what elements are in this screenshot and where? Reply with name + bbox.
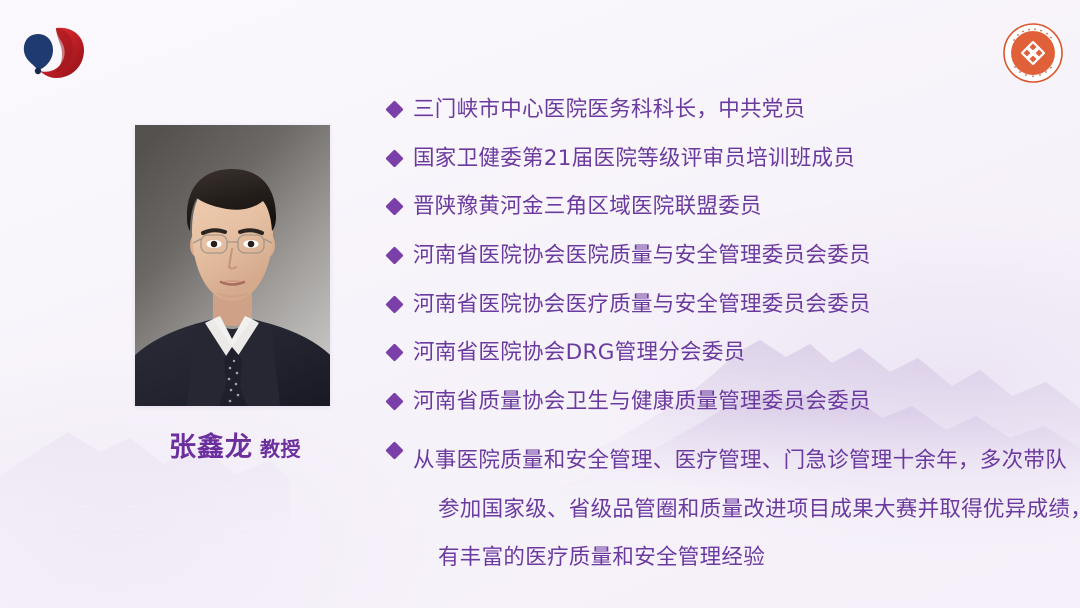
diamond-bullet-icon — [385, 295, 403, 313]
diamond-bullet-icon — [385, 149, 403, 167]
paragraph-line: 从事医院质量和安全管理、医疗管理、门急诊管理十余年，多次带队 — [413, 437, 1051, 486]
list-item-label: 国家卫健委第21届医院等级评审员培训班成员 — [413, 145, 855, 173]
list-item: 河南省质量协会卫生与健康质量管理委员会委员 — [388, 388, 1058, 437]
list-item-label: 河南省质量协会卫生与健康质量管理委员会委员 — [413, 388, 871, 416]
list-item-label: 河南省医院协会医院质量与安全管理委员会委员 — [413, 242, 871, 270]
speaker-photo — [135, 125, 330, 406]
diamond-bullet-icon — [385, 441, 403, 459]
speaker-photo-frame — [135, 125, 330, 406]
list-item-paragraph: 从事医院质量和安全管理、医疗管理、门急诊管理十余年，多次带队 参加国家级、省级品… — [388, 437, 1058, 583]
speaker-title: 教授 — [260, 437, 301, 461]
list-item: 晋陕豫黄河金三角区域医院联盟委员 — [388, 193, 1058, 242]
list-item-label: 河南省医院协会医疗质量与安全管理委员会委员 — [413, 291, 871, 319]
list-item: 河南省医院协会医院质量与安全管理委员会委员 — [388, 242, 1058, 291]
slide-root: 张鑫龙教授 三门峡市中心医院医务科科长，中共党员 国家卫健委第21届医院等级评审… — [0, 0, 1080, 608]
diamond-bullet-icon — [385, 344, 403, 362]
list-item: 河南省医院协会DRG管理分会委员 — [388, 339, 1058, 388]
diamond-bullet-icon — [385, 392, 403, 410]
speaker-name: 张鑫龙 — [169, 432, 253, 463]
list-item-label: 三门峡市中心医院医务科科长，中共党员 — [413, 96, 805, 124]
speaker-name-caption: 张鑫龙教授 — [135, 434, 335, 461]
paragraph-line: 有丰富的医疗质量和安全管理经验 — [413, 534, 1051, 583]
diamond-bullet-icon — [385, 198, 403, 216]
credentials-list: 三门峡市中心医院医务科科长，中共党员 国家卫健委第21届医院等级评审员培训班成员… — [388, 96, 1058, 583]
list-item-label: 晋陕豫黄河金三角区域医院联盟委员 — [413, 193, 762, 221]
brand-logo — [14, 20, 92, 86]
circular-seal-logo — [1001, 21, 1065, 85]
list-item: 国家卫健委第21届医院等级评审员培训班成员 — [388, 145, 1058, 194]
paragraph-line: 参加国家级、省级品管圈和质量改进项目成果大赛并取得优异成绩， — [413, 486, 1051, 535]
list-item: 河南省医院协会医疗质量与安全管理委员会委员 — [388, 291, 1058, 340]
diamond-bullet-icon — [385, 246, 403, 264]
diamond-bullet-icon — [385, 100, 403, 118]
experience-paragraph: 从事医院质量和安全管理、医疗管理、门急诊管理十余年，多次带队 参加国家级、省级品… — [413, 437, 1051, 583]
list-item: 三门峡市中心医院医务科科长，中共党员 — [388, 96, 1058, 145]
list-item-label: 河南省医院协会DRG管理分会委员 — [413, 339, 745, 367]
